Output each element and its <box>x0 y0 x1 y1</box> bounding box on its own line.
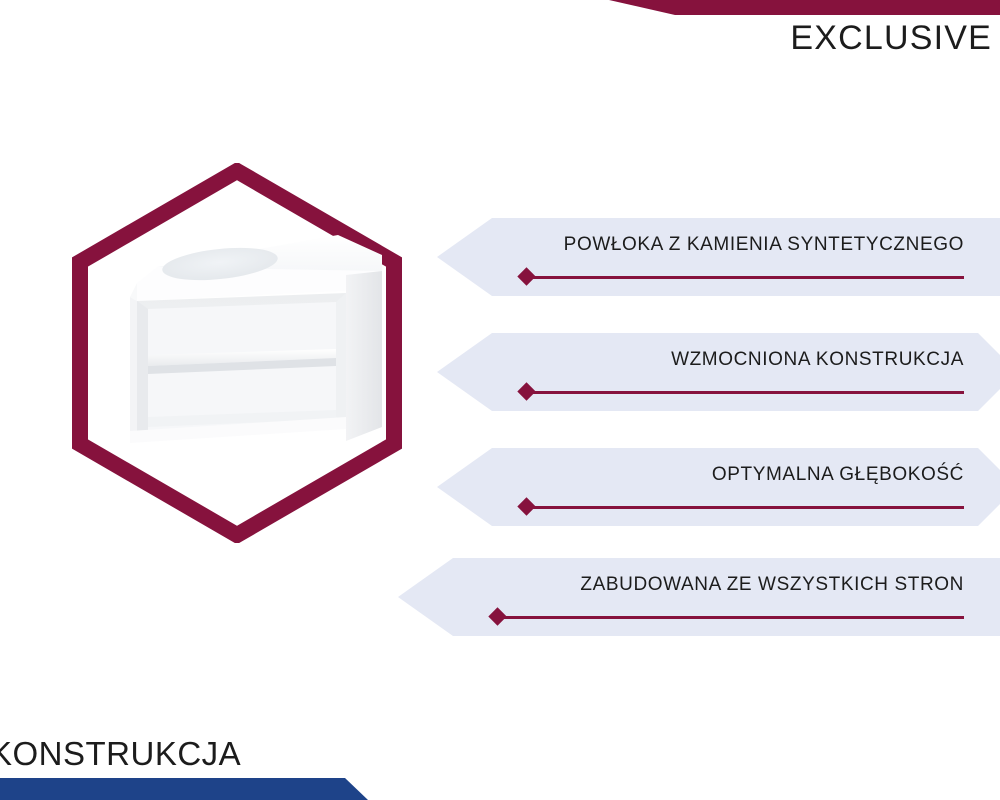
vanity-cabinet-illustration <box>110 227 388 449</box>
feature-label-4: ZABUDOWANA ZE WSZYSTKICH STRON <box>580 574 964 596</box>
footer-title: KONSTRUKCJA <box>0 737 241 770</box>
feature-label-3: OPTYMALNA GŁĘBOKOŚĆ <box>712 464 964 486</box>
feature-rule-1 <box>527 276 964 279</box>
feature-rule-2 <box>527 391 964 394</box>
feature-badge-3[interactable]: OPTYMALNA GŁĘBOKOŚĆ <box>437 448 1000 526</box>
top-accent-banner <box>609 0 1000 15</box>
feature-label-1: POWŁOKA Z KAMIENIA SYNTETYCZNEGO <box>564 234 964 256</box>
feature-label-2: WZMOCNIONA KONSTRUKCJA <box>671 349 964 371</box>
feature-rule-3 <box>527 506 964 509</box>
product-feature-slide: EXCLUSIVE <box>0 0 1000 800</box>
feature-rule-4 <box>498 616 964 619</box>
feature-badge-4[interactable]: ZABUDOWANA ZE WSZYSTKICH STRON <box>398 558 1000 636</box>
page-title: EXCLUSIVE <box>790 21 992 55</box>
product-image <box>110 227 388 449</box>
bottom-accent-banner <box>0 778 368 800</box>
feature-badge-1[interactable]: POWŁOKA Z KAMIENIA SYNTETYCZNEGO <box>437 218 1000 296</box>
feature-badge-2[interactable]: WZMOCNIONA KONSTRUKCJA <box>437 333 1000 411</box>
product-hexagon-frame <box>72 163 402 543</box>
